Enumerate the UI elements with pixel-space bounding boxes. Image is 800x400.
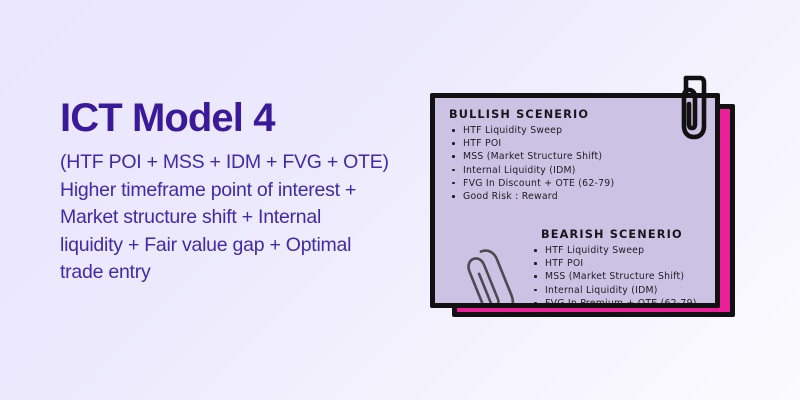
list-item-label: FVG In Premium + OTE (62-79) (545, 298, 697, 308)
paperclip-icon-inner (463, 240, 519, 308)
subtitle-paragraph: (HTF POI + MSS + IDM + FVG + OTE) Higher… (60, 149, 405, 287)
list-item: FVG In Premium + OTE (62-79) (531, 297, 697, 308)
bullet-icon (534, 289, 537, 292)
list-item: Internal Liquidity (IDM) (531, 284, 697, 297)
bullet-icon (452, 155, 455, 158)
bullish-scenario-title: BULLISH SCENERIO (449, 108, 614, 121)
bullet-icon (534, 262, 537, 265)
page-title: ICT Model 4 (60, 96, 405, 140)
list-item-label: Internal Liquidity (IDM) (545, 285, 658, 296)
list-item-label: HTF POI (545, 258, 583, 269)
bullish-scenario-list: HTF Liquidity Sweep HTF POI MSS (Market … (449, 124, 614, 203)
list-item-label: Internal Liquidity (IDM) (463, 165, 576, 176)
list-item-label: HTF POI (463, 138, 501, 149)
bullet-icon (452, 195, 455, 198)
subtitle-line: Higher timeframe point of interest + (60, 177, 405, 205)
list-item-label: MSS (Market Structure Shift) (545, 271, 684, 282)
list-item-label: HTF Liquidity Sweep (545, 245, 644, 256)
bullet-icon (452, 169, 455, 172)
slide-canvas: ICT Model 4 (HTF POI + MSS + IDM + FVG +… (0, 0, 800, 400)
list-item-label: MSS (Market Structure Shift) (463, 151, 602, 162)
bullet-icon (534, 275, 537, 278)
scenario-card-stack: BULLISH SCENERIO HTF Liquidity Sweep HTF… (424, 70, 754, 340)
subtitle-line: trade entry (60, 259, 405, 287)
bearish-scenario-list: HTF Liquidity Sweep HTF POI MSS (Market … (531, 244, 697, 308)
bearish-scenario-block: BEARISH SCENERIO HTF Liquidity Sweep HTF… (531, 228, 697, 308)
bullish-scenario-block: BULLISH SCENERIO HTF Liquidity Sweep HTF… (449, 108, 614, 203)
list-item: HTF POI (531, 257, 697, 270)
bullet-icon (534, 302, 537, 305)
list-item: FVG In Discount + OTE (62-79) (449, 177, 614, 190)
list-item-label: HTF Liquidity Sweep (463, 125, 562, 136)
subtitle-line: liquidity + Fair value gap + Optimal (60, 232, 405, 260)
list-item-label: FVG In Discount + OTE (62-79) (463, 178, 614, 189)
left-text-block: ICT Model 4 (HTF POI + MSS + IDM + FVG +… (60, 96, 405, 287)
subtitle-line: Market structure shift + Internal (60, 204, 405, 232)
list-item: Internal Liquidity (IDM) (449, 164, 614, 177)
list-item: MSS (Market Structure Shift) (449, 150, 614, 163)
bullet-icon (452, 142, 455, 145)
list-item: HTF POI (449, 137, 614, 150)
bullet-icon (452, 129, 455, 132)
list-item: HTF Liquidity Sweep (531, 244, 697, 257)
bearish-scenario-title: BEARISH SCENERIO (531, 228, 697, 241)
list-item: MSS (Market Structure Shift) (531, 270, 697, 283)
list-item-label: Good Risk : Reward (463, 191, 558, 202)
bullet-icon (534, 249, 537, 252)
scenario-card: BULLISH SCENERIO HTF Liquidity Sweep HTF… (430, 93, 720, 308)
subtitle-line: (HTF POI + MSS + IDM + FVG + OTE) (60, 149, 405, 177)
list-item: HTF Liquidity Sweep (449, 124, 614, 137)
list-item: Good Risk : Reward (449, 190, 614, 203)
bullet-icon (452, 182, 455, 185)
